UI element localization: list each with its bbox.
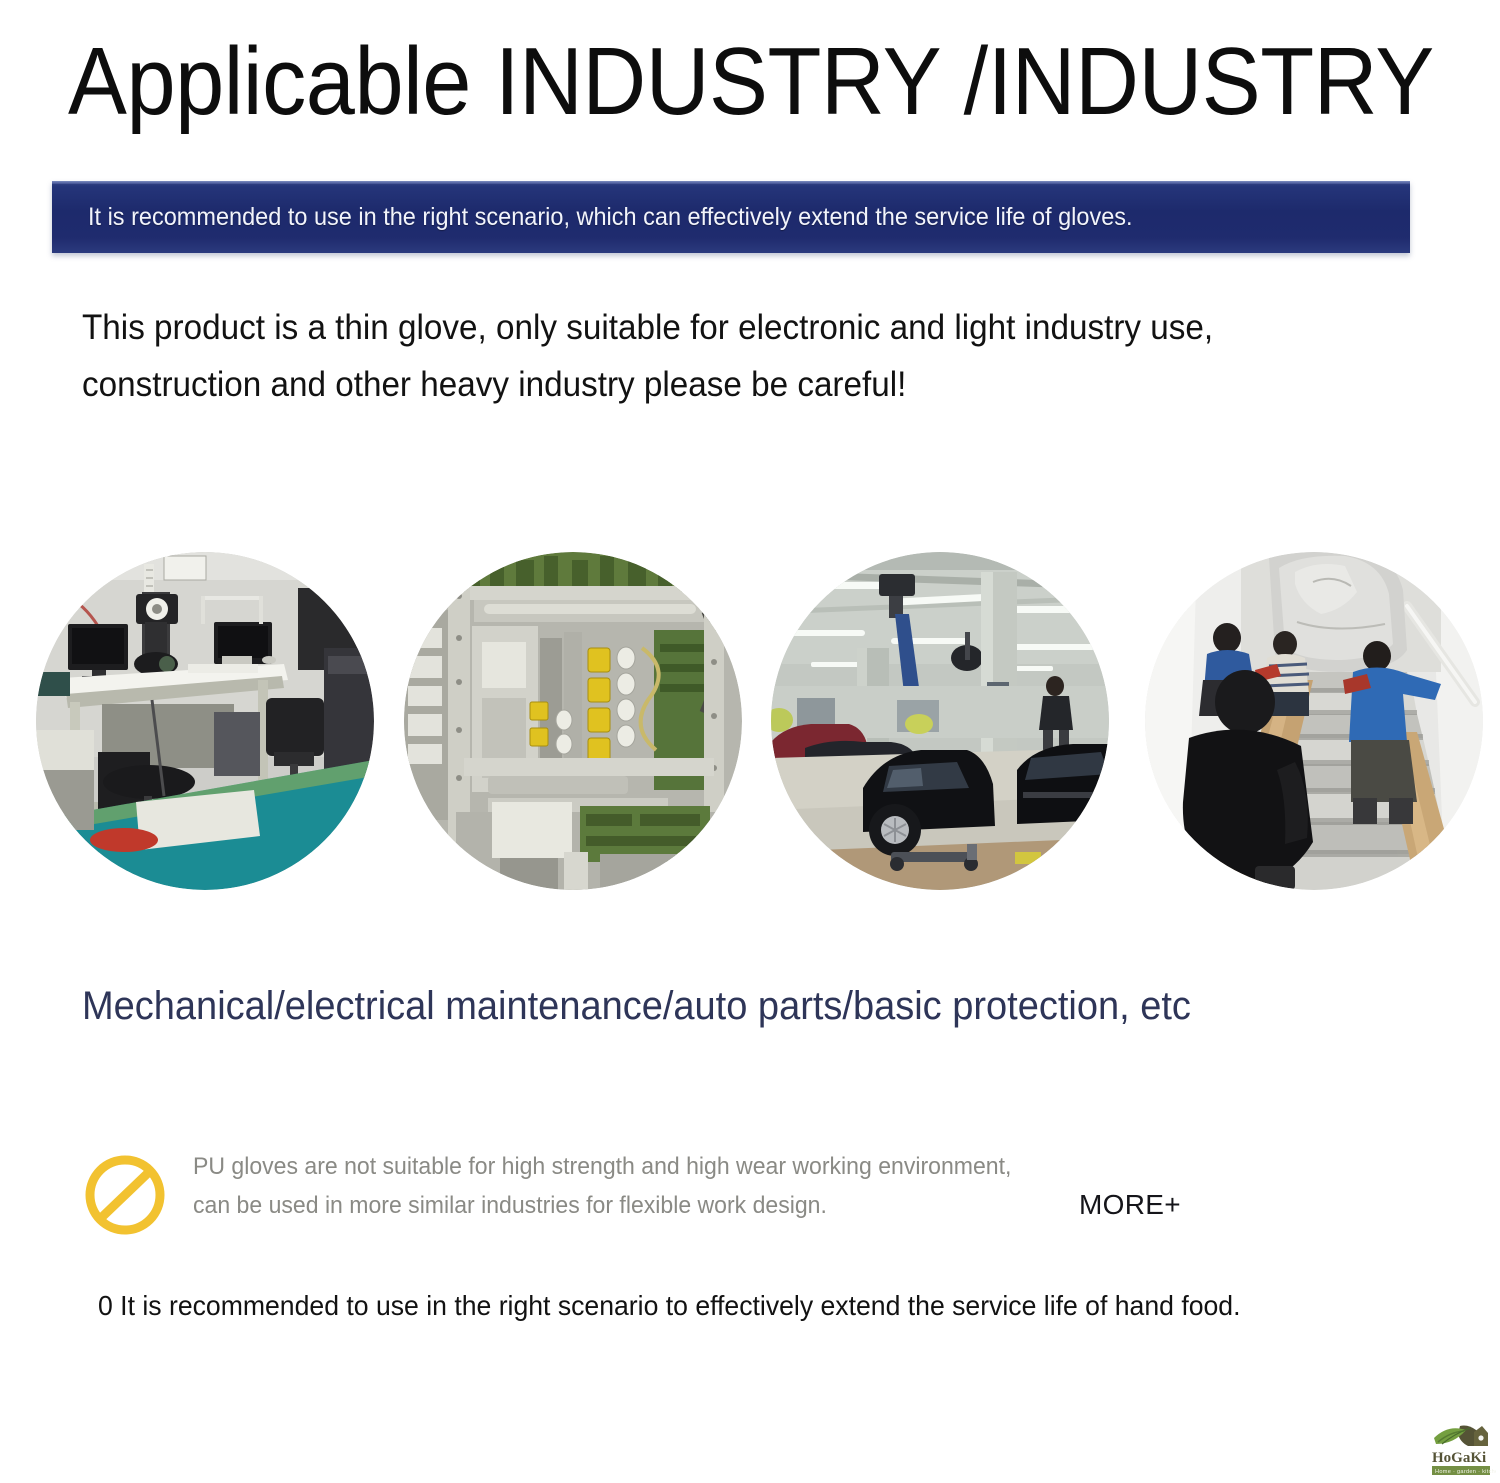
- footer-note: 0 It is recommended to use in the right …: [98, 1290, 1240, 1322]
- page-title: Applicable INDUSTRY /INDUSTRY: [68, 34, 1434, 130]
- photo-electronic-chassis-interior: [404, 552, 742, 890]
- more-link[interactable]: MORE+: [1079, 1189, 1181, 1221]
- application-photo-strip: [0, 552, 1500, 892]
- warning-text: PU gloves are not suitable for high stre…: [193, 1148, 1047, 1226]
- photo-auto-repair-garage: [771, 552, 1109, 890]
- prohibition-icon: [82, 1152, 168, 1238]
- recommendation-banner-text: It is recommended to use in the right sc…: [88, 203, 1133, 232]
- leaf-house-icon: [1434, 1426, 1488, 1447]
- photo-electronics-lab-workstation: [36, 552, 374, 890]
- hogaki-watermark-logo: HoGaKi Home · garden · kitchen: [1424, 1420, 1496, 1480]
- recommendation-banner: It is recommended to use in the right sc…: [52, 181, 1410, 253]
- brand-wordmark: HoGaKi: [1432, 1450, 1486, 1466]
- photo-appliance-moving-stairs: [1145, 552, 1483, 890]
- intro-paragraph: This product is a thin glove, only suita…: [82, 300, 1270, 413]
- category-heading: Mechanical/electrical maintenance/auto p…: [82, 975, 1203, 1037]
- brand-tagline: Home · garden · kitchen: [1435, 1469, 1496, 1475]
- warning-block: PU gloves are not suitable for high stre…: [82, 1146, 1202, 1238]
